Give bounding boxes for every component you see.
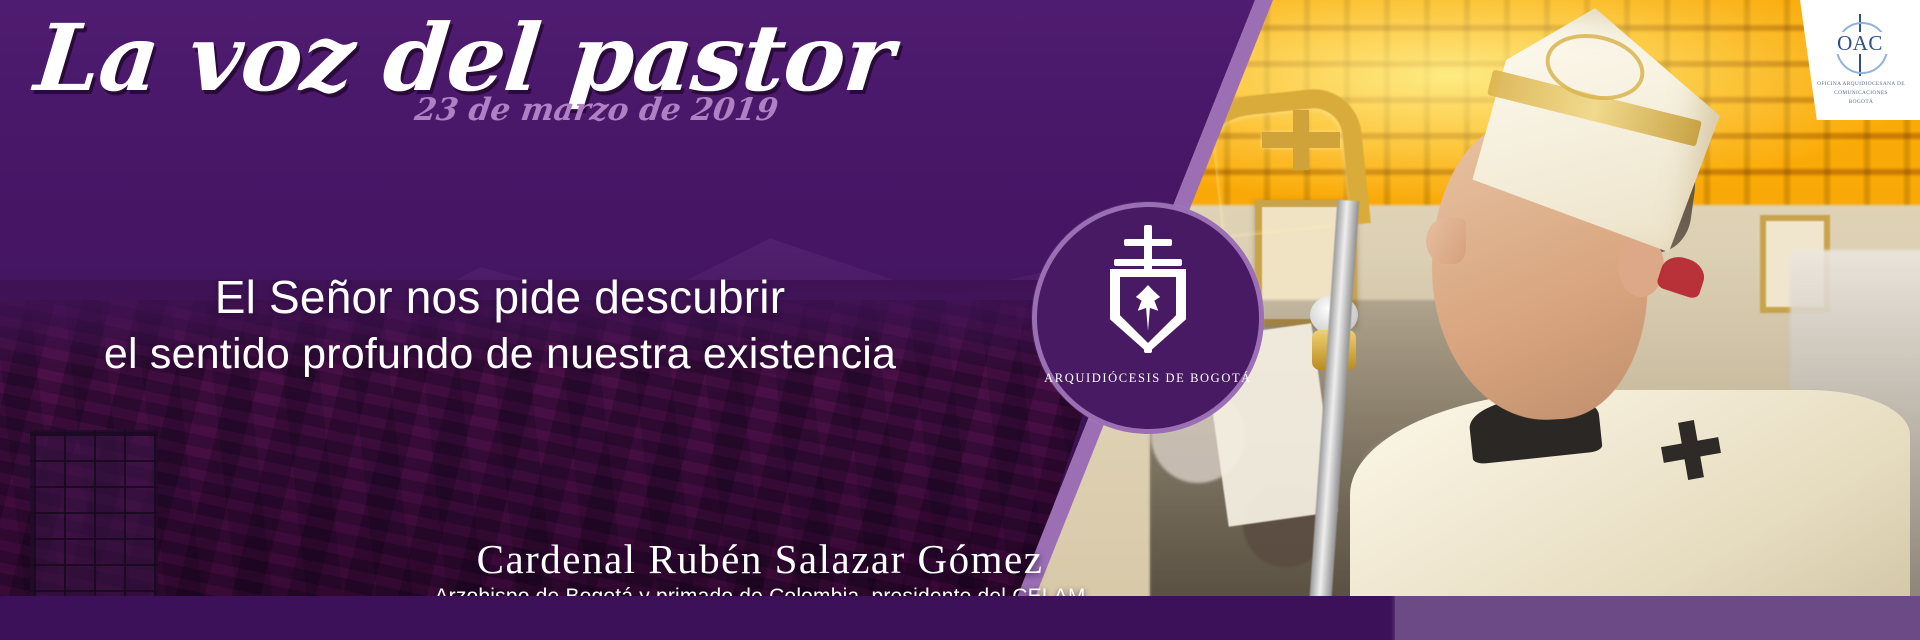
headline: El Señor nos pide descubrir el sentido p… [0, 268, 1000, 382]
oac-acronym: OAC [1824, 32, 1896, 54]
headline-line-1: El Señor nos pide descubrir [0, 268, 1000, 327]
page-title: La voz del pastor [31, 12, 897, 104]
oac-subtitle-line-2: Comunicaciones [1810, 89, 1912, 98]
crosier-cross-icon [1262, 132, 1340, 148]
oac-cross-circle-icon: OAC [1824, 14, 1896, 76]
bottom-bar-right-segment [1395, 596, 1920, 640]
emblem-label: Arquidiócesis de Bogotá [1044, 371, 1252, 386]
issue-date: 23 de marzo de 2019 [412, 92, 780, 128]
oac-subtitle-line-3: Bogotá [1810, 98, 1912, 107]
oac-subtitle: Oficina Arquidiocesana de Comunicaciones… [1810, 80, 1912, 107]
banner: La voz del pastor 23 de marzo de 2019 El… [0, 0, 1920, 640]
oac-logo: OAC Oficina Arquidiocesana de Comunicaci… [1800, 0, 1920, 120]
headline-line-2: el sentido profundo de nuestra existenci… [0, 327, 1000, 382]
cross-lower-bar [1114, 259, 1182, 266]
archdiocese-emblem: Arquidiócesis de Bogotá [1032, 202, 1264, 434]
face-profile [1426, 218, 1466, 264]
coat-of-arms-icon [1088, 225, 1208, 365]
oac-subtitle-line-1: Oficina Arquidiocesana de [1810, 80, 1912, 89]
speaker-name: Cardenal Rubén Salazar Gómez [300, 535, 1220, 583]
cross-upper-bar [1124, 239, 1172, 246]
